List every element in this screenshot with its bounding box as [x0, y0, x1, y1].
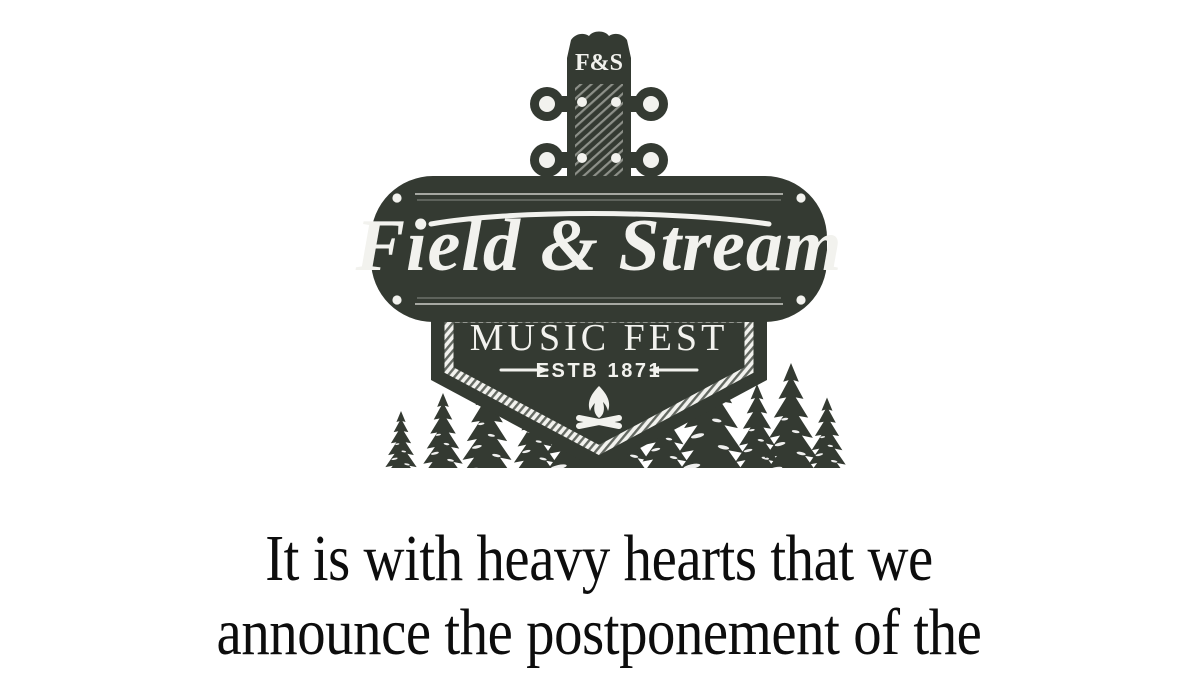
logo-script-title: Field & Stream: [355, 205, 843, 287]
announcement-text: It is with heavy hearts that we announce…: [0, 522, 1198, 670]
headstock-initials: F&S: [575, 50, 623, 76]
announcement-page: F&S: [0, 0, 1198, 673]
logo-banner: Field & Stream: [355, 176, 843, 322]
logo-subtitle: MUSIC FEST: [470, 317, 729, 359]
festival-logo: F&S: [339, 18, 859, 468]
announcement-line-2: announce the postponement of the: [84, 596, 1114, 670]
announcement-line-1: It is with heavy hearts that we: [84, 522, 1114, 596]
logo-established: ESTB 1871: [536, 360, 663, 382]
